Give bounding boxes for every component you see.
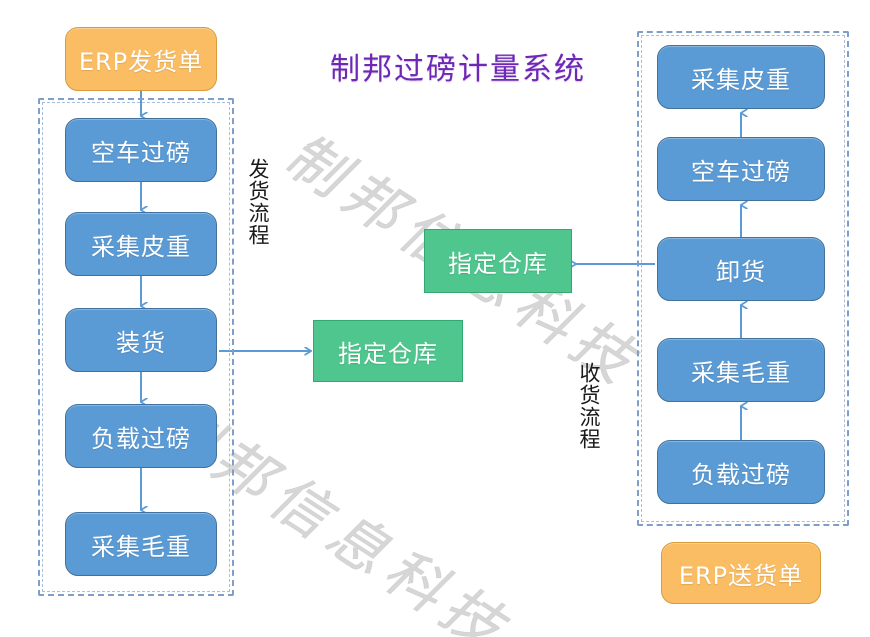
- node-receiving-empty-weigh[interactable]: 空车过磅: [657, 137, 825, 201]
- node-receiving-loaded-weigh[interactable]: 负载过磅: [657, 440, 825, 504]
- node-shipping-collect-gross[interactable]: 采集毛重: [65, 512, 217, 576]
- node-erp-shipping-order[interactable]: ERP发货单: [65, 27, 217, 91]
- node-shipping-empty-weigh[interactable]: 空车过磅: [65, 118, 217, 182]
- node-designated-warehouse-receiving[interactable]: 指定仓库: [424, 229, 572, 293]
- node-receiving-unload-goods[interactable]: 卸货: [657, 237, 825, 301]
- group-shipping-label: 发货流程: [247, 158, 268, 246]
- page-title: 制邦过磅计量系统: [330, 44, 586, 88]
- node-shipping-load-goods[interactable]: 装货: [65, 308, 217, 372]
- node-shipping-loaded-weigh[interactable]: 负载过磅: [65, 404, 217, 468]
- node-shipping-collect-tare[interactable]: 采集皮重: [65, 212, 217, 276]
- node-erp-delivery-order[interactable]: ERP送货单: [661, 542, 821, 604]
- node-designated-warehouse-shipping[interactable]: 指定仓库: [313, 320, 463, 382]
- node-receiving-collect-tare[interactable]: 采集皮重: [657, 45, 825, 109]
- flowchart-canvas: 制邦信息科技 制邦信息科技: [0, 0, 870, 637]
- node-receiving-collect-gross[interactable]: 采集毛重: [657, 338, 825, 402]
- group-receiving-label: 收货流程: [578, 362, 599, 450]
